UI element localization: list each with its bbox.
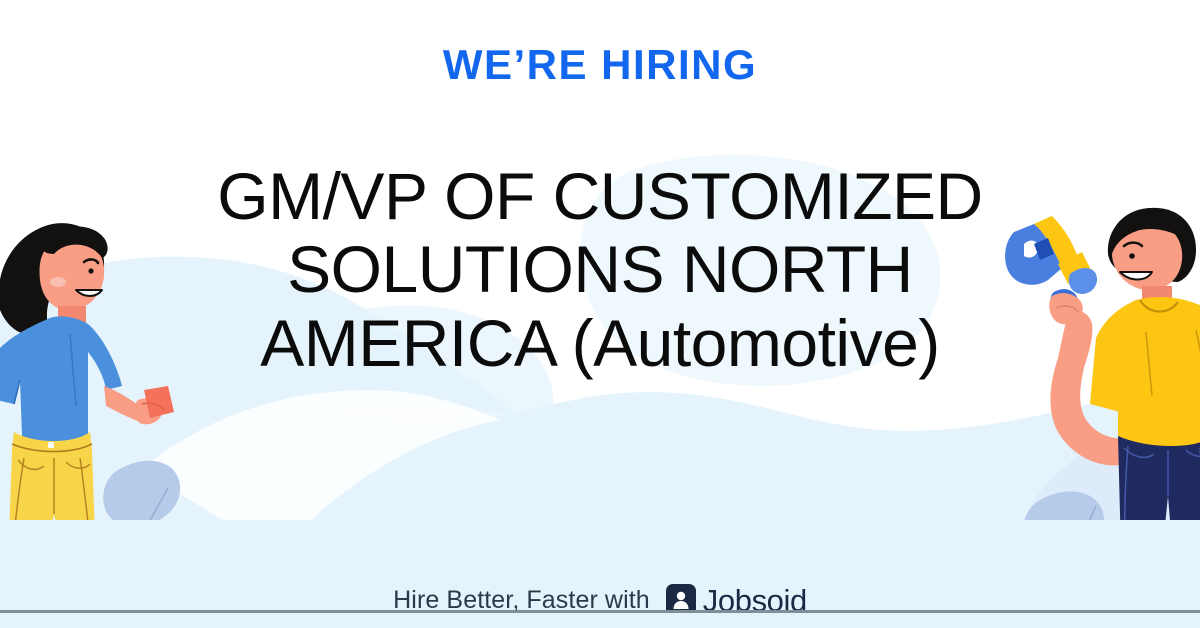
footer-bottom-strip (0, 613, 1200, 628)
job-title-line-2: SOLUTIONS NORTH (170, 233, 1030, 306)
hiring-banner: Hire Better, Faster with Jobsoid WE’RE H… (0, 0, 1200, 628)
footer-divider-rule (0, 610, 1200, 613)
eyebrow-were-hiring: WE’RE HIRING (443, 44, 757, 86)
footer-band: Hire Better, Faster with Jobsoid (0, 520, 1200, 610)
job-title-block: GM/VP OF CUSTOMIZED SOLUTIONS NORTH AMER… (170, 160, 1030, 380)
job-title-line-3: AMERICA (Automotive) (170, 307, 1030, 380)
job-title-line-1: GM/VP OF CUSTOMIZED (170, 160, 1030, 233)
